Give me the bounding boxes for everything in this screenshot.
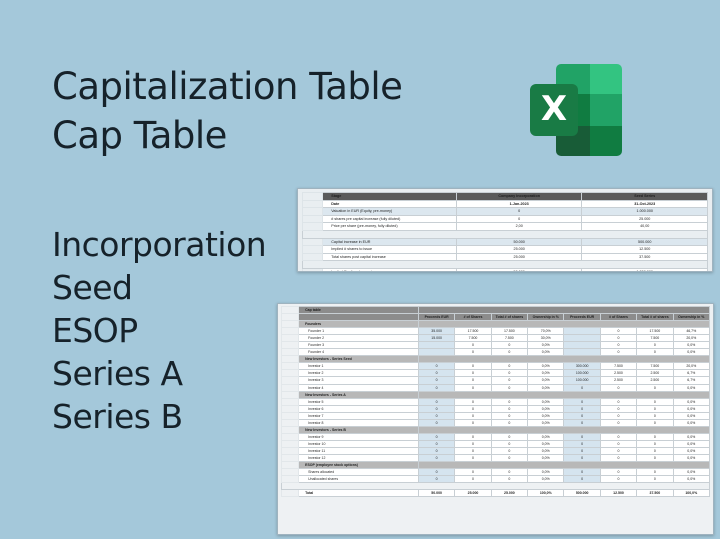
cell-value-c7[interactable]: 0	[637, 454, 673, 461]
cell-value-c7[interactable]: 0	[637, 419, 673, 426]
row-label: Capital increase in EUR	[323, 238, 457, 246]
cell-value-c4[interactable]: 0,0%	[528, 349, 564, 356]
cell-value-c5[interactable]: 0	[564, 447, 600, 454]
total-value-c8: 100,0%	[673, 490, 709, 497]
cell-value-c3[interactable]: 0	[491, 447, 527, 454]
table-row[interactable]: Investor 70000,0%0000,0%	[282, 412, 710, 419]
cell-value-c3[interactable]: 0	[491, 476, 527, 483]
row-label: Implied Equity value post-money	[323, 268, 457, 272]
cell-value-c1[interactable]: 15.000	[418, 335, 454, 342]
cell-value-c7[interactable]: 0	[637, 405, 673, 412]
section-title: Founders	[299, 321, 419, 328]
cap-table[interactable]: Cap tableProceeds EUR# of SharesTotal # …	[277, 303, 714, 535]
cap-table-grid: Cap tableProceeds EUR# of SharesTotal # …	[281, 306, 710, 497]
cell-value-c4[interactable]: 0,0%	[528, 377, 564, 384]
row-label: Investor 7	[299, 412, 419, 419]
row-stub	[303, 208, 323, 216]
row-label: Shares allocated	[299, 469, 419, 476]
table-row[interactable]: Shares allocated0000,0%0000,0%	[282, 469, 710, 476]
row-stub	[282, 462, 299, 469]
cell-value-c1[interactable]: 0	[418, 363, 454, 370]
section-fill	[418, 391, 709, 398]
cell-value-c3[interactable]: 0	[491, 412, 527, 419]
row-stub	[303, 223, 323, 231]
cell-value-c6[interactable]: 0	[600, 433, 636, 440]
cell-value-c6[interactable]: 0	[600, 342, 636, 349]
cap-table-title-fill	[418, 307, 709, 314]
cell-value-c3[interactable]: 0	[491, 454, 527, 461]
cell-value-c7[interactable]: 0	[637, 433, 673, 440]
row-label: Investor 5	[299, 398, 419, 405]
cell-value-c1[interactable]: 0	[418, 454, 454, 461]
cell-value-c4[interactable]: 0,0%	[528, 412, 564, 419]
row-stub	[303, 253, 323, 261]
stage-item-incorporation: Incorporation	[52, 223, 266, 266]
cell-value-c7[interactable]: 7.500	[637, 335, 673, 342]
column-header-6: # of Shares	[600, 314, 636, 321]
cell-value-c5[interactable]: 0	[564, 440, 600, 447]
cell-value-c4[interactable]: 0,0%	[528, 440, 564, 447]
cell-value[interactable]: 500.000	[582, 238, 708, 246]
cell-value-c1[interactable]: 0	[418, 384, 454, 391]
slide-canvas: Capitalization Table Cap Table Incorpora…	[0, 0, 720, 539]
table-row: Price per share (pre-money, fully dilute…	[303, 223, 708, 231]
cell-value-c5[interactable]	[564, 349, 600, 356]
cell-value-c5[interactable]: 0	[564, 476, 600, 483]
cell-value-c2[interactable]: 0	[455, 454, 491, 461]
total-value-c6: 12.500	[600, 490, 636, 497]
cell-value-c6[interactable]: 0	[600, 440, 636, 447]
cell-value[interactable]: 40,00	[582, 223, 708, 231]
cell-value-c5[interactable]: 0	[564, 419, 600, 426]
table-row[interactable]: Founder 3000,0%000,0%	[282, 342, 710, 349]
table-row: Capital increase in EUR 50.000 500.000	[303, 238, 708, 246]
cell-value-c2[interactable]: 0	[455, 377, 491, 384]
row-stub	[282, 328, 299, 335]
cell-value-c3[interactable]: 0	[491, 405, 527, 412]
cell-value-c3[interactable]: 0	[491, 342, 527, 349]
row-stub	[282, 412, 299, 419]
cell-value-c5[interactable]: 0	[564, 469, 600, 476]
stage-item-seed: Seed	[52, 266, 266, 309]
row-label: Investor 9	[299, 433, 419, 440]
cell-value-c1[interactable]: 0	[418, 398, 454, 405]
cell-value-c1[interactable]	[418, 349, 454, 356]
row-label: Investor 10	[299, 440, 419, 447]
cell-value[interactable]: 25.000	[456, 253, 582, 261]
cell-value-c2[interactable]: 0	[455, 419, 491, 426]
cell-value-c2[interactable]: 0	[455, 342, 491, 349]
cell-value-c6[interactable]: 0	[600, 384, 636, 391]
section-fill	[418, 356, 709, 363]
cell-value-c8[interactable]: 0,0%	[673, 405, 709, 412]
cell-value-c7[interactable]: 2.500	[637, 377, 673, 384]
cell-value-c6[interactable]: 0	[600, 469, 636, 476]
stage-item-series-b: Series B	[52, 395, 266, 438]
cell-value-c6[interactable]: 0	[600, 398, 636, 405]
cell-value-c4[interactable]: 0,0%	[528, 447, 564, 454]
cell-value-c7[interactable]: 0	[637, 398, 673, 405]
cell-value-c1[interactable]: 0	[418, 412, 454, 419]
row-label: Founder 4	[299, 349, 419, 356]
row-label: Founder 1	[299, 328, 419, 335]
cell-value-c3[interactable]: 17.500	[491, 328, 527, 335]
section-header-row: Founders	[282, 321, 710, 328]
row-label: Investor 3	[299, 377, 419, 384]
cell-value-c1[interactable]: 0	[418, 377, 454, 384]
row-stub	[282, 314, 299, 321]
cell-value[interactable]: 1.000.000	[582, 208, 708, 216]
cell-value[interactable]: 25.000	[582, 215, 708, 223]
cell-value-c7[interactable]: 7.500	[637, 363, 673, 370]
stage-item-series-a: Series A	[52, 352, 266, 395]
table-row[interactable]: Investor 30000,0%100.0002.5002.5006,7%	[282, 377, 710, 384]
row-stub	[282, 447, 299, 454]
cell-value-c3[interactable]: 7.500	[491, 335, 527, 342]
table-row: Implied # shares to issue 25.000 12.500	[303, 246, 708, 254]
cell-value-c6[interactable]: 0	[600, 405, 636, 412]
cell-value-c2[interactable]: 7.500	[455, 335, 491, 342]
section-fill	[418, 462, 709, 469]
cell-value-c8[interactable]: 6,7%	[673, 377, 709, 384]
cell-value-c8[interactable]: 20,0%	[673, 335, 709, 342]
cell-value-c5[interactable]: 100.000	[564, 377, 600, 384]
cell-value-c4[interactable]: 0,0%	[528, 469, 564, 476]
cell-value[interactable]: 0	[456, 215, 582, 223]
cell-value-c6[interactable]: 0	[600, 328, 636, 335]
table-row[interactable]: Investor 110000,0%0000,0%	[282, 447, 710, 454]
valuation-grid: Stage Company Incorporation Seed Series …	[302, 192, 708, 272]
cell-value-c1[interactable]: 0	[418, 370, 454, 377]
cell-value-c6[interactable]: 0	[600, 454, 636, 461]
row-stub	[282, 356, 299, 363]
row-stub	[282, 433, 299, 440]
cell-value-c8[interactable]: 0,0%	[673, 469, 709, 476]
cell-value-c4[interactable]: 0,0%	[528, 405, 564, 412]
cell-value-c2[interactable]: 0	[455, 469, 491, 476]
total-row: Total50.00025.00025.000100,0%500.00012.5…	[282, 490, 710, 497]
stage-item-esop: ESOP	[52, 309, 266, 352]
cell-value-c2[interactable]: 0	[455, 384, 491, 391]
cell-value-c6[interactable]: 2.500	[600, 370, 636, 377]
cell-value-c6[interactable]: 0	[600, 412, 636, 419]
row-stub	[282, 476, 299, 483]
cell-value-c2[interactable]: 0	[455, 440, 491, 447]
row-stub	[303, 268, 323, 272]
cell-value-c4[interactable]: 0,0%	[528, 476, 564, 483]
excel-icon: X	[530, 62, 622, 158]
cell-value-c5[interactable]: 0	[564, 384, 600, 391]
cell-value-c8[interactable]: 0,0%	[673, 454, 709, 461]
total-value-c2: 25.000	[455, 490, 491, 497]
cell-value-c5[interactable]: 0	[564, 398, 600, 405]
cell-value[interactable]: 1.500.000	[582, 268, 708, 272]
row-label: Total shares post capital increase	[323, 253, 457, 261]
row-label: Investor 11	[299, 447, 419, 454]
cell-value-c2[interactable]: 0	[455, 370, 491, 377]
excel-badge: X	[530, 84, 578, 136]
table-row[interactable]: Founder 135.00017.50017.50070,0%017.5004…	[282, 328, 710, 335]
row-stub	[282, 398, 299, 405]
cell-value-c4[interactable]: 0,0%	[528, 433, 564, 440]
cell-value-c2[interactable]: 17.500	[455, 328, 491, 335]
row-label: Unallocated shares	[299, 476, 419, 483]
cell-value-c2[interactable]: 0	[455, 398, 491, 405]
row-stub	[282, 349, 299, 356]
cell-value-c1[interactable]: 0	[418, 476, 454, 483]
cell-value-c4[interactable]: 0,0%	[528, 363, 564, 370]
cell-value-c7[interactable]: 17.500	[637, 328, 673, 335]
cell-value-c6[interactable]: 0	[600, 447, 636, 454]
cell-value-c6[interactable]: 7.500	[600, 363, 636, 370]
column-header-3: Total # of shares	[491, 314, 527, 321]
column-header-1: Proceeds EUR	[418, 314, 454, 321]
valuation-date-col1: 1-Jan-2023	[456, 200, 582, 208]
cell-value-c8[interactable]: 0,0%	[673, 447, 709, 454]
cell-value-c4[interactable]: 70,0%	[528, 328, 564, 335]
row-stub	[303, 246, 323, 254]
cell-value[interactable]: 25.000	[456, 246, 582, 254]
table-row[interactable]: Investor 50000,0%0000,0%	[282, 398, 710, 405]
cell-value-c5[interactable]	[564, 342, 600, 349]
title-line-1: Capitalization Table	[52, 62, 402, 111]
cell-value-c6[interactable]: 0	[600, 476, 636, 483]
cell-value-c6[interactable]: 0	[600, 335, 636, 342]
stage-list: Incorporation Seed ESOP Series A Series …	[52, 223, 266, 438]
row-stub	[282, 377, 299, 384]
table-row: Total shares post capital increase 25.00…	[303, 253, 708, 261]
cell-value-c5[interactable]: 100.000	[564, 370, 600, 377]
cell-value-c8[interactable]: 0,0%	[673, 398, 709, 405]
table-row-date: Date 1-Jan-2023 31-Oct-2023	[303, 200, 708, 208]
row-label: Investor 4	[299, 384, 419, 391]
cell-value-c7[interactable]: 2.500	[637, 370, 673, 377]
cell-value[interactable]: 37.500	[582, 253, 708, 261]
column-header-5: Proceeds EUR	[564, 314, 600, 321]
table-row[interactable]: Investor 80000,0%0000,0%	[282, 419, 710, 426]
cell-value-c3[interactable]: 0	[491, 377, 527, 384]
cell-value-c3[interactable]: 0	[491, 398, 527, 405]
table-row[interactable]: Investor 10000,0%300.0007.5007.50020,0%	[282, 363, 710, 370]
row-label: Investor 12	[299, 454, 419, 461]
cell-value-c5[interactable]: 300.000	[564, 363, 600, 370]
row-separator	[303, 261, 708, 269]
row-stub	[282, 363, 299, 370]
row-label: Investor 2	[299, 370, 419, 377]
cell-value-c8[interactable]: 20,0%	[673, 363, 709, 370]
section-title: New Investors - Series A	[299, 391, 419, 398]
cell-value[interactable]: 50.000	[456, 268, 582, 272]
row-label: Investor 6	[299, 405, 419, 412]
cell-value-c2[interactable]: 0	[455, 405, 491, 412]
table-row[interactable]: Unallocated shares0000,0%0000,0%	[282, 476, 710, 483]
cell-value-c3[interactable]: 0	[491, 384, 527, 391]
section-fill	[418, 321, 709, 328]
total-label: Total	[299, 490, 419, 497]
row-stub	[282, 391, 299, 398]
row-stub	[282, 440, 299, 447]
row-stub	[282, 419, 299, 426]
cell-value-c8[interactable]: 0,0%	[673, 349, 709, 356]
cell-value-c5[interactable]: 0	[564, 412, 600, 419]
cell-value-c5[interactable]: 0	[564, 405, 600, 412]
row-stub	[282, 426, 299, 433]
row-stub	[282, 307, 299, 314]
cell-value-c3[interactable]: 0	[491, 349, 527, 356]
cell-value-c2[interactable]: 0	[455, 447, 491, 454]
cell-value-c5[interactable]	[564, 328, 600, 335]
section-header-row: New Investors - Series B	[282, 426, 710, 433]
table-row[interactable]: Investor 20000,0%100.0002.5002.5006,7%	[282, 370, 710, 377]
column-header-2: # of Shares	[455, 314, 491, 321]
cell-value-c4[interactable]: 30,0%	[528, 335, 564, 342]
cell-value-c3[interactable]: 0	[491, 419, 527, 426]
cap-table-header-row: Proceeds EUR# of SharesTotal # of shares…	[282, 314, 710, 321]
title-line-2: Cap Table	[52, 111, 402, 160]
cell-value-c7[interactable]: 0	[637, 349, 673, 356]
total-value-c5: 500.000	[564, 490, 600, 497]
row-stub	[303, 238, 323, 246]
column-header-8: Ownership in %	[673, 314, 709, 321]
total-value-c7: 37.500	[637, 490, 673, 497]
row-label: Founder 3	[299, 342, 419, 349]
cell-value-c3[interactable]: 0	[491, 363, 527, 370]
row-label: Price per share (pre-money, fully dilute…	[323, 223, 457, 231]
cell-value-c4[interactable]: 0,0%	[528, 370, 564, 377]
valuation-date-col2: 31-Oct-2023	[582, 200, 708, 208]
cell-value-c2[interactable]: 0	[455, 363, 491, 370]
row-stub	[303, 193, 323, 201]
row-stub	[282, 321, 299, 328]
cell-value[interactable]: 0	[456, 208, 582, 216]
cell-value-c8[interactable]: 0,0%	[673, 433, 709, 440]
section-title: New Investors - Series B	[299, 426, 419, 433]
cell-value-c7[interactable]: 0	[637, 447, 673, 454]
cell-value-c1[interactable]: 0	[418, 447, 454, 454]
cell-value-c8[interactable]: 0,0%	[673, 412, 709, 419]
cell-value-c7[interactable]: 0	[637, 384, 673, 391]
cell-value-c4[interactable]: 0,0%	[528, 398, 564, 405]
section-header-row: New Investors - Series A	[282, 391, 710, 398]
section-header-row: New Investors - Series Seed	[282, 356, 710, 363]
cell-value-c8[interactable]: 0,0%	[673, 476, 709, 483]
cell-value-c4[interactable]: 0,0%	[528, 342, 564, 349]
cell-value-c3[interactable]: 0	[491, 440, 527, 447]
cell-value-c1[interactable]: 0	[418, 440, 454, 447]
cell-value-c7[interactable]: 0	[637, 342, 673, 349]
cell-value-c5[interactable]: 0	[564, 433, 600, 440]
table-row[interactable]: Investor 100000,0%0000,0%	[282, 440, 710, 447]
cell-value-c8[interactable]: 0,0%	[673, 440, 709, 447]
cell-value-c8[interactable]: 0,0%	[673, 419, 709, 426]
table-row[interactable]: Investor 90000,0%0000,0%	[282, 433, 710, 440]
valuation-stage-label: Stage	[323, 193, 457, 201]
cell-value-c6[interactable]: 2.500	[600, 377, 636, 384]
row-stub	[282, 469, 299, 476]
cell-value-c6[interactable]: 0	[600, 349, 636, 356]
cell-value-c1[interactable]: 0	[418, 433, 454, 440]
row-label: Founder 2	[299, 335, 419, 342]
total-value-c3: 25.000	[491, 490, 527, 497]
row-stub	[282, 454, 299, 461]
row-label: Investor 8	[299, 419, 419, 426]
cap-table-title: Cap table	[299, 307, 419, 314]
cell-value-c8[interactable]: 0,0%	[673, 342, 709, 349]
table-row[interactable]: Investor 120000,0%0000,0%	[282, 454, 710, 461]
table-row[interactable]: Founder 215.0007.5007.50030,0%07.50020,0…	[282, 335, 710, 342]
cell-value-c2[interactable]: 0	[455, 349, 491, 356]
cell-value-c2[interactable]: 0	[455, 433, 491, 440]
cell-value-c8[interactable]: 0,0%	[673, 384, 709, 391]
valuation-table[interactable]: Stage Company Incorporation Seed Series …	[297, 188, 713, 272]
row-stub	[282, 384, 299, 391]
cell-value-c2[interactable]: 0	[455, 412, 491, 419]
excel-x-glyph: X	[541, 92, 567, 126]
section-header-row: ESOP (employee stock options)	[282, 462, 710, 469]
total-value-c4: 100,0%	[528, 490, 564, 497]
cell-value-c1[interactable]	[418, 342, 454, 349]
row-separator	[303, 230, 708, 238]
valuation-col1-header: Company Incorporation	[456, 193, 582, 201]
cell-value[interactable]: 2,00	[456, 223, 582, 231]
section-title: ESOP (employee stock options)	[299, 462, 419, 469]
cell-value-c4[interactable]: 0,0%	[528, 419, 564, 426]
cell-value-c1[interactable]: 35.000	[418, 328, 454, 335]
cell-value[interactable]: 50.000	[456, 238, 582, 246]
header-spacer	[299, 314, 419, 321]
cell-value-c8[interactable]: 6,7%	[673, 370, 709, 377]
row-stub	[303, 200, 323, 208]
page-title: Capitalization Table Cap Table	[52, 62, 402, 160]
cell-value-c2[interactable]: 0	[455, 476, 491, 483]
cell-value-c7[interactable]: 0	[637, 476, 673, 483]
cell-value-c1[interactable]: 0	[418, 469, 454, 476]
cell-value-c8[interactable]: 46,7%	[673, 328, 709, 335]
row-stub	[282, 490, 299, 497]
total-value-c1: 50.000	[418, 490, 454, 497]
table-row[interactable]: Investor 40000,0%0000,0%	[282, 384, 710, 391]
cell-value-c3[interactable]: 0	[491, 469, 527, 476]
column-header-4: Ownership in %	[528, 314, 564, 321]
row-label: Implied # shares to issue	[323, 246, 457, 254]
cell-value-c1[interactable]: 0	[418, 405, 454, 412]
cell-value-c4[interactable]: 0,0%	[528, 384, 564, 391]
cell-value-c3[interactable]: 0	[491, 370, 527, 377]
row-stub	[282, 370, 299, 377]
cell-value-c3[interactable]: 0	[491, 433, 527, 440]
table-row[interactable]: Investor 60000,0%0000,0%	[282, 405, 710, 412]
cell-value-c5[interactable]: 0	[564, 454, 600, 461]
cell-value-c4[interactable]: 0,0%	[528, 454, 564, 461]
cell-value[interactable]: 12.500	[582, 246, 708, 254]
cell-value-c7[interactable]: 0	[637, 412, 673, 419]
cap-table-title-row: Cap table	[282, 307, 710, 314]
cell-value-c7[interactable]: 0	[637, 440, 673, 447]
section-title: New Investors - Series Seed	[299, 356, 419, 363]
row-label: # shares pre capital increase (fully dil…	[323, 215, 457, 223]
row-label: Valuation in EUR (Equity, pre-money)	[323, 208, 457, 216]
cell-value-c6[interactable]: 0	[600, 419, 636, 426]
cell-value-c7[interactable]: 0	[637, 469, 673, 476]
cell-value-c5[interactable]	[564, 335, 600, 342]
valuation-col2-header: Seed Series	[582, 193, 708, 201]
row-stub	[282, 335, 299, 342]
row-stub	[303, 215, 323, 223]
row-stub	[282, 405, 299, 412]
cell-value-c1[interactable]: 0	[418, 419, 454, 426]
row-stub	[282, 342, 299, 349]
table-row[interactable]: Founder 4000,0%000,0%	[282, 349, 710, 356]
